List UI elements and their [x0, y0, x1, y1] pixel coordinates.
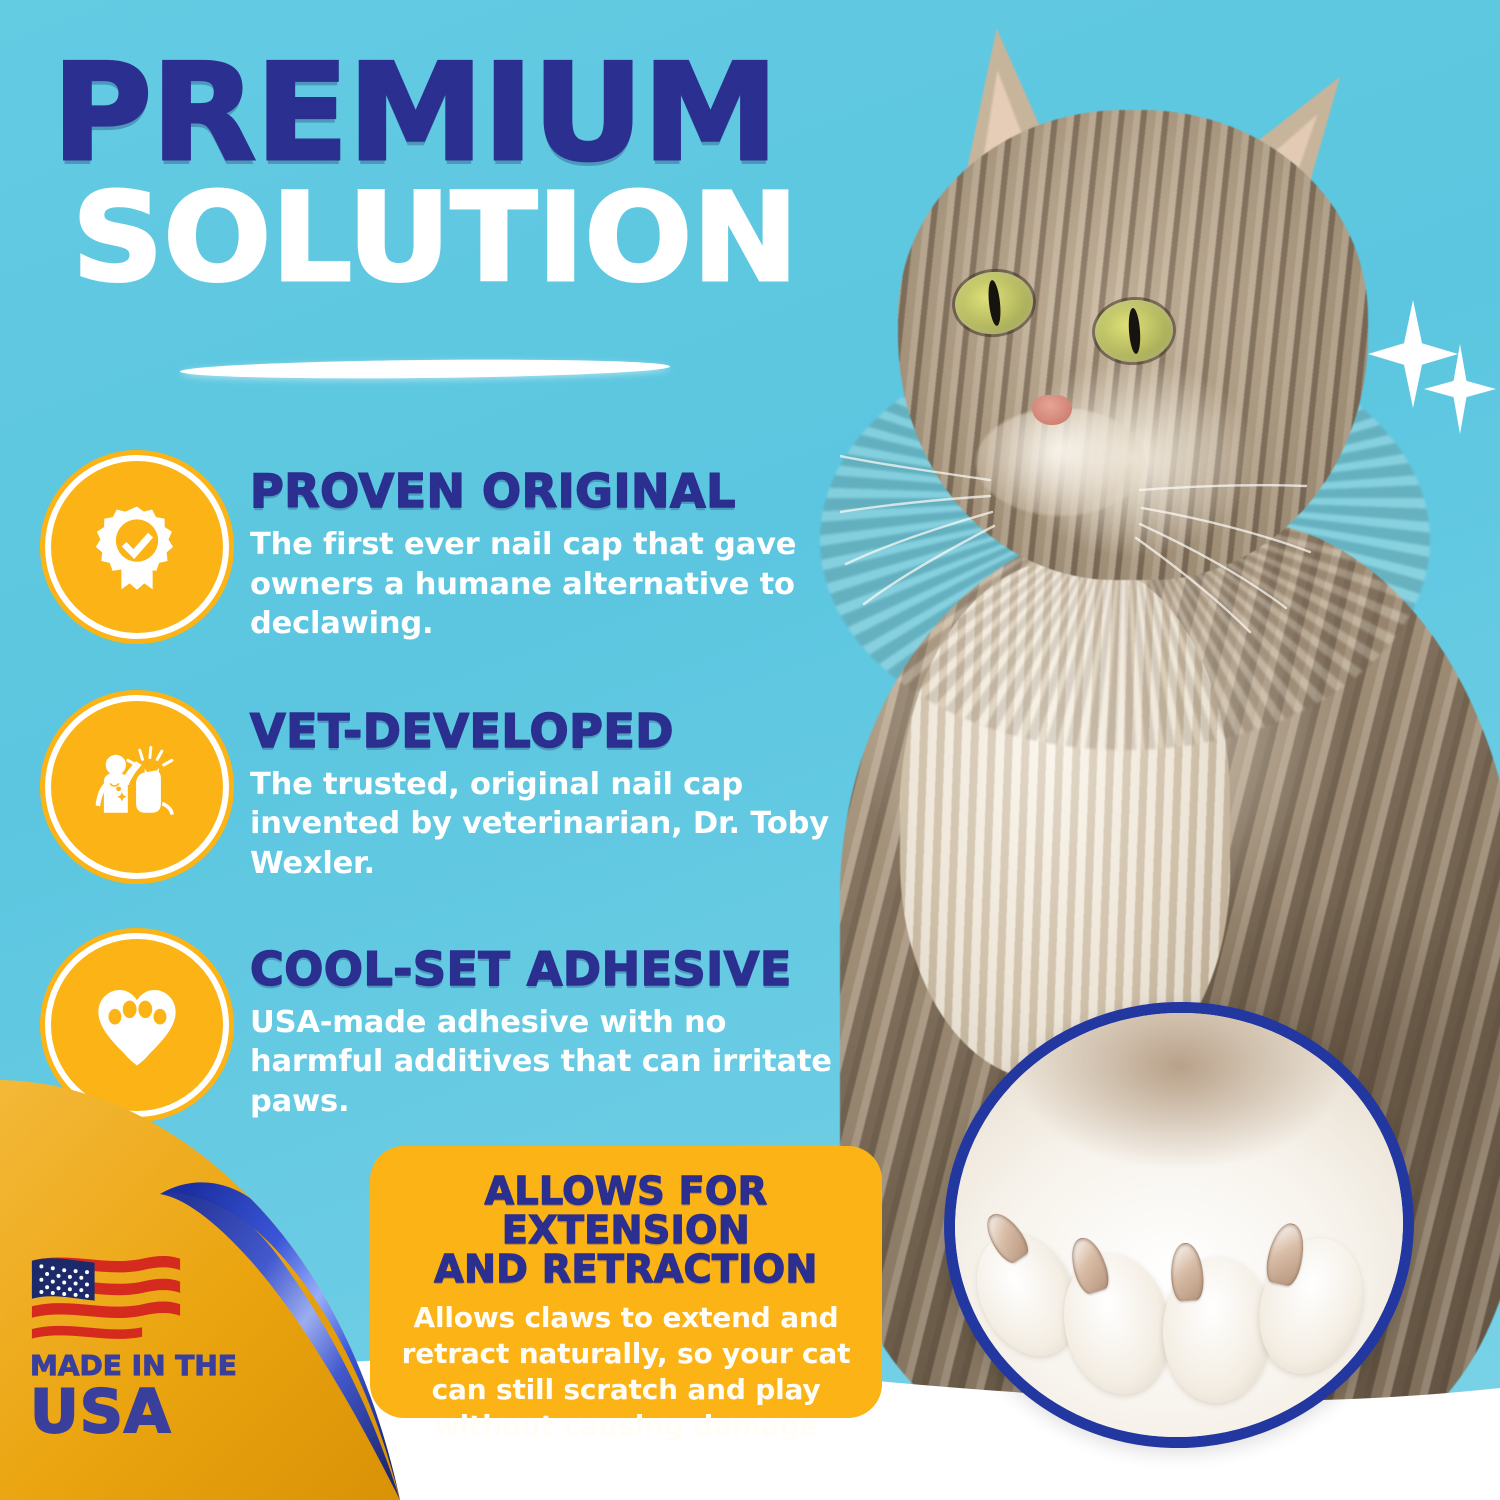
callout-title-line-1: ALLOWS FOR EXTENSION [485, 1169, 768, 1252]
feature-text-block: VET-DEVELOPED The trusted, original nail… [250, 702, 878, 884]
swoosh-divider [180, 357, 670, 380]
feature-list: PROVEN ORIGINAL The first ever nail cap … [58, 462, 878, 1167]
cat-whiskers [840, 360, 1360, 640]
nail-cap-3 [1169, 1242, 1205, 1302]
feature-item-vet-developed: VET-DEVELOPED The trusted, original nail… [58, 702, 878, 884]
feature-title: COOL-SET ADHESIVE [250, 946, 878, 993]
vet-high-five-cat-glyph [91, 741, 183, 833]
award-ribbon-check-glyph [91, 501, 183, 593]
callout-title: ALLOWS FOR EXTENSION AND RETRACTION [390, 1172, 862, 1288]
feature-text-block: PROVEN ORIGINAL The first ever nail cap … [250, 462, 878, 644]
made-in-usa-badge: MADE IN THE USA [30, 1247, 240, 1442]
callout-title-line-2: AND RETRACTION [434, 1247, 817, 1291]
callout-description: Allows claws to extend and retract natur… [390, 1300, 862, 1443]
product-infographic: PREMIUM SOLUTION PROVEN ORIGINAL Th [0, 0, 1500, 1500]
paw-photo [947, 1005, 1411, 1445]
feature-title: VET-DEVELOPED [250, 708, 878, 755]
cat-paw-nail-caps-inset [929, 986, 1429, 1464]
title-line-1: PREMIUM [52, 52, 909, 175]
feature-description: The first ever nail cap that gave owners… [250, 525, 850, 644]
cat-right-pupil [1127, 308, 1141, 355]
heart-paw-glyph [91, 979, 183, 1071]
made-in-usa-line-1: MADE IN THE [30, 1351, 240, 1380]
title-line-2: SOLUTION [72, 179, 925, 299]
made-in-usa-line-2: USA [30, 1382, 240, 1442]
feature-description: The trusted, original nail cap invented … [250, 765, 850, 884]
cat-left-pupil [987, 279, 1003, 326]
feature-item-proven-original: PROVEN ORIGINAL The first ever nail cap … [58, 462, 878, 644]
usa-flag-icon [30, 1247, 182, 1339]
extension-retraction-callout: ALLOWS FOR EXTENSION AND RETRACTION Allo… [370, 1146, 882, 1418]
vet-high-five-cat-icon [58, 708, 216, 866]
award-ribbon-check-icon [58, 468, 216, 626]
feature-title: PROVEN ORIGINAL [250, 468, 878, 515]
page-title: PREMIUM SOLUTION [52, 52, 892, 299]
